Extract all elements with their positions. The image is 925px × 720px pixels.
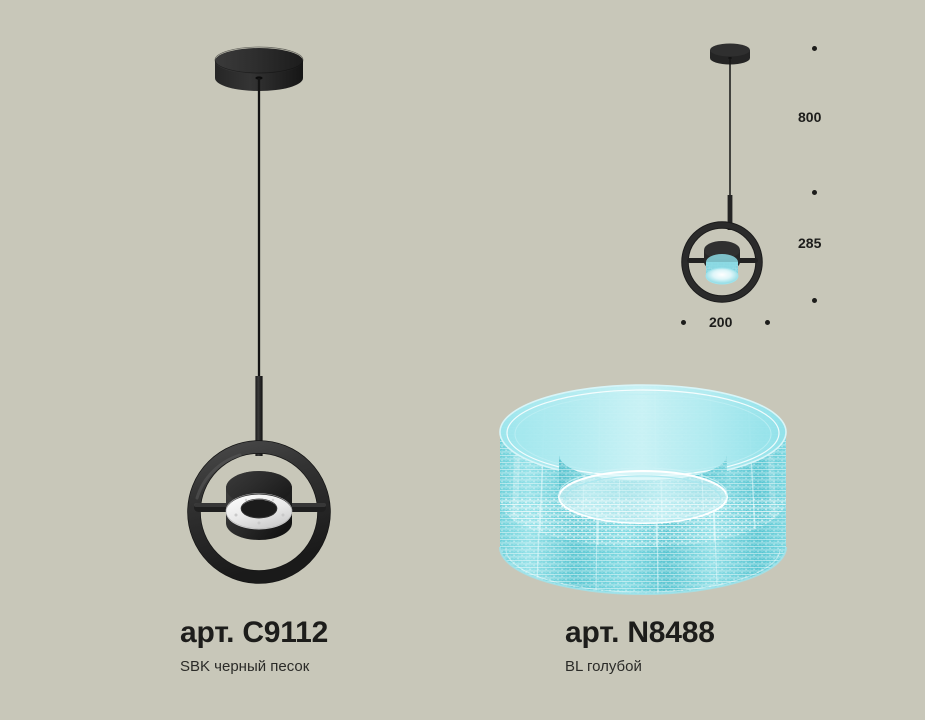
product-illustrations [0, 0, 925, 720]
dimension-label-fixture-height: 285 [798, 236, 821, 250]
dimension-label-fixture-width: 200 [709, 315, 732, 329]
product-illustration-glass-shade [496, 380, 790, 600]
lens-aperture [241, 500, 277, 519]
product-illustration-base-module [194, 47, 326, 577]
product-article-title: арт. C9112 [180, 618, 328, 648]
preview-lamp-hub-shade [704, 241, 740, 284]
dimension-label-total-height: 800 [798, 110, 821, 124]
product-caption-glass-shade: арт. N8488 BL голубой [565, 618, 715, 674]
dimension-dot-total-bottom [812, 190, 817, 195]
dimension-dot-width-left [681, 320, 686, 325]
lamp-hub [226, 471, 292, 540]
dimension-dot-width-right [765, 320, 770, 325]
product-article-title: арт. N8488 [565, 618, 715, 648]
product-caption-base-module: арт. C9112 SBK черный песок [180, 618, 328, 674]
product-sheet-canvas: 800 285 200 арт. C9112 SBK черный песок … [0, 0, 925, 720]
dimension-dot-fixture-bottom [812, 298, 817, 303]
product-color-subtitle: SBK черный песок [180, 659, 328, 674]
dimension-dot-total-top [812, 46, 817, 51]
product-color-subtitle: BL голубой [565, 659, 715, 674]
assembly-preview-illustration [685, 44, 759, 300]
